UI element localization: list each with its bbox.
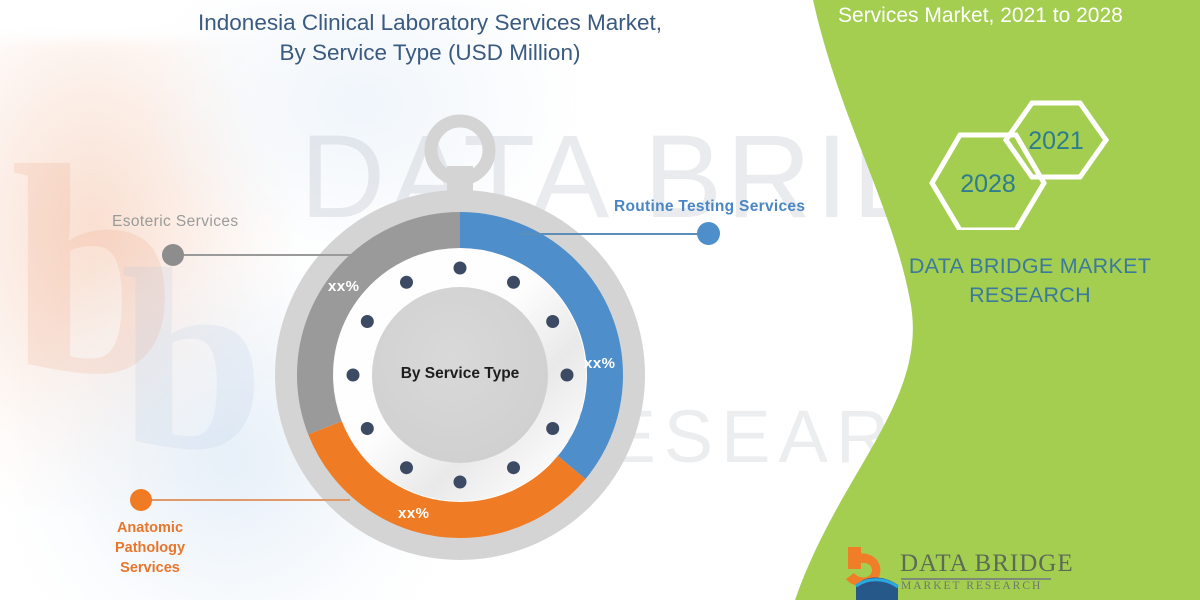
logo-name: DATA BRIDGE — [900, 550, 1074, 578]
callout-anatomic-dot — [130, 489, 152, 511]
callout-routine-dot — [697, 222, 720, 245]
year-hexagon-group: 2021 2028 — [920, 95, 1120, 230]
panel-brand-line-1: DATA BRIDGE MARKET — [880, 252, 1180, 281]
segment-label-routine-pct: xx% — [584, 355, 616, 372]
callout-esoteric-leader-line — [182, 254, 372, 256]
callout-esoteric-dot — [162, 244, 184, 266]
panel-brand-line-2: RESEARCH — [880, 281, 1180, 310]
page-title-line-2: By Service Type (USD Million) — [120, 38, 740, 68]
callout-anatomic-leader-line — [150, 499, 350, 501]
callout-esoteric-label: Esoteric Services — [112, 213, 239, 231]
callout-anatomic-label: Anatomic Pathology Services — [90, 518, 210, 578]
service-type-donut-chart — [248, 100, 673, 600]
hexagon-2028-label: 2028 — [960, 170, 1016, 198]
panel-heading: Services Market, 2021 to 2028 — [838, 2, 1188, 30]
logo-tagline: MARKET RESEARCH — [901, 580, 1042, 592]
infographic-canvas: b b DATA BRIDGE RESEARCH Indonesia Clini… — [0, 0, 1200, 600]
segment-label-anatomic-pct: xx% — [398, 505, 430, 522]
stopwatch-crown-icon — [431, 121, 489, 202]
hexagon-2021-label: 2021 — [1028, 127, 1084, 155]
page-title: Indonesia Clinical Laboratory Services M… — [120, 8, 740, 68]
databridge-logo: DATA BRIDGE MARKET RESEARCH — [840, 545, 1170, 600]
page-title-line-1: Indonesia Clinical Laboratory Services M… — [198, 10, 662, 35]
segment-label-esoteric-pct: xx% — [328, 278, 360, 295]
databridge-logo-mark — [840, 545, 900, 600]
callout-routine-leader-line — [520, 233, 700, 235]
callout-routine-label: Routine Testing Services — [614, 198, 805, 216]
panel-brand: DATA BRIDGE MARKET RESEARCH — [880, 252, 1180, 310]
watermark-b-glyph-cool: b — [120, 230, 265, 490]
donut-center-label: By Service Type — [380, 365, 540, 383]
